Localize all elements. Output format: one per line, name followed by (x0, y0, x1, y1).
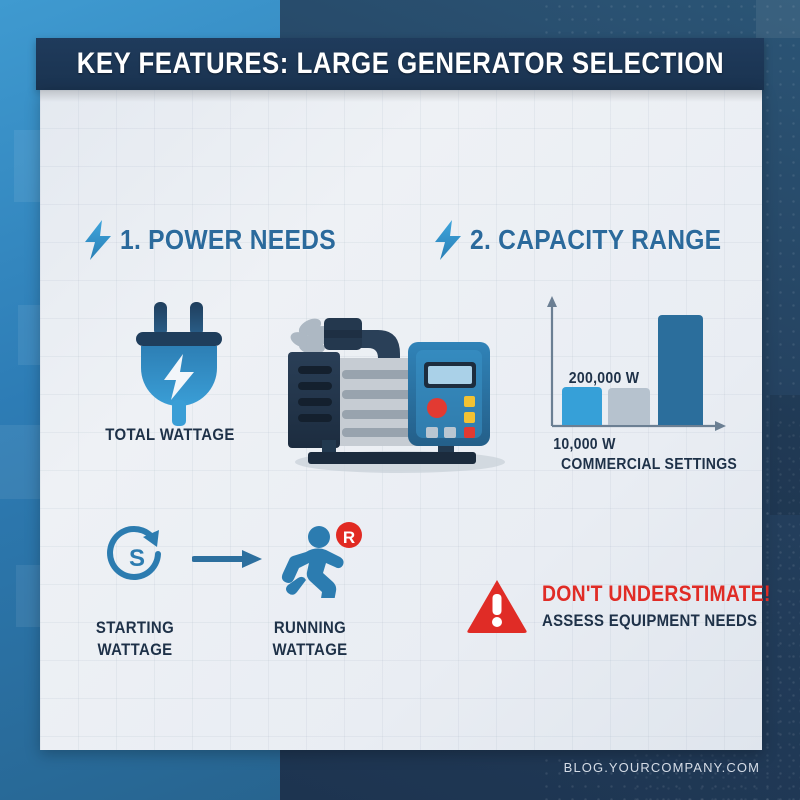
flow-arrow-icon (192, 548, 264, 570)
lightning-bolt-icon (432, 218, 466, 262)
bar-large (658, 315, 703, 425)
warning-subline: ASSESS EQUIPMENT NEEDS (542, 611, 771, 631)
running-person-r-icon: R (276, 522, 362, 598)
section-heading-capacity-range: 2. CAPACITY RANGE (432, 218, 756, 262)
runner-figure (282, 526, 344, 598)
chart-bottom-label-line2: COMMERCIAL SETTINGS (561, 456, 737, 474)
generator-icon (280, 300, 520, 480)
infographic-canvas: KEY FEATURES: LARGE GENERATOR SELECTION … (0, 0, 800, 800)
title-bar: KEY FEATURES: LARGE GENERATOR SELECTION (36, 38, 764, 90)
warning-block: DON'T UNDERSTIMATE! ASSESS EQUIPMENT NEE… (466, 578, 800, 634)
starting-badge-letter: S (129, 545, 145, 572)
capacity-bar-chart (530, 296, 730, 441)
warning-headline: DON'T UNDERSTIMATE! (542, 581, 771, 607)
running-badge-letter: R (343, 528, 355, 547)
running-wattage-label-line1: RUNNING (244, 618, 376, 639)
total-wattage-label: TOTAL WATTAGE (82, 425, 258, 446)
section-heading-label: 2. CAPACITY RANGE (470, 224, 721, 256)
warning-triangle-icon (466, 578, 528, 634)
section-heading-label: 1. POWER NEEDS (120, 224, 336, 256)
bar-medium (608, 388, 650, 425)
starting-wattage-label-line1: STARTING (69, 618, 201, 639)
bar-small (562, 387, 602, 425)
starting-wattage-label-line2: WATTAGE (69, 640, 201, 661)
circular-arrow-s-icon: S (102, 522, 172, 592)
power-plug-icon (110, 296, 250, 428)
chart-bottom-label-line1: 10,000 W (553, 436, 615, 454)
chart-top-label: 200,000 W (569, 370, 639, 388)
footer-url: BLOG.YOURCOMPANY.COM (564, 760, 760, 775)
page-title: KEY FEATURES: LARGE GENERATOR SELECTION (76, 47, 724, 81)
section-heading-power-needs: 1. POWER NEEDS (82, 218, 365, 262)
running-wattage-label-line2: WATTAGE (244, 640, 376, 661)
background-block (756, 0, 800, 38)
background-block (770, 395, 800, 515)
lightning-bolt-icon (82, 218, 116, 262)
